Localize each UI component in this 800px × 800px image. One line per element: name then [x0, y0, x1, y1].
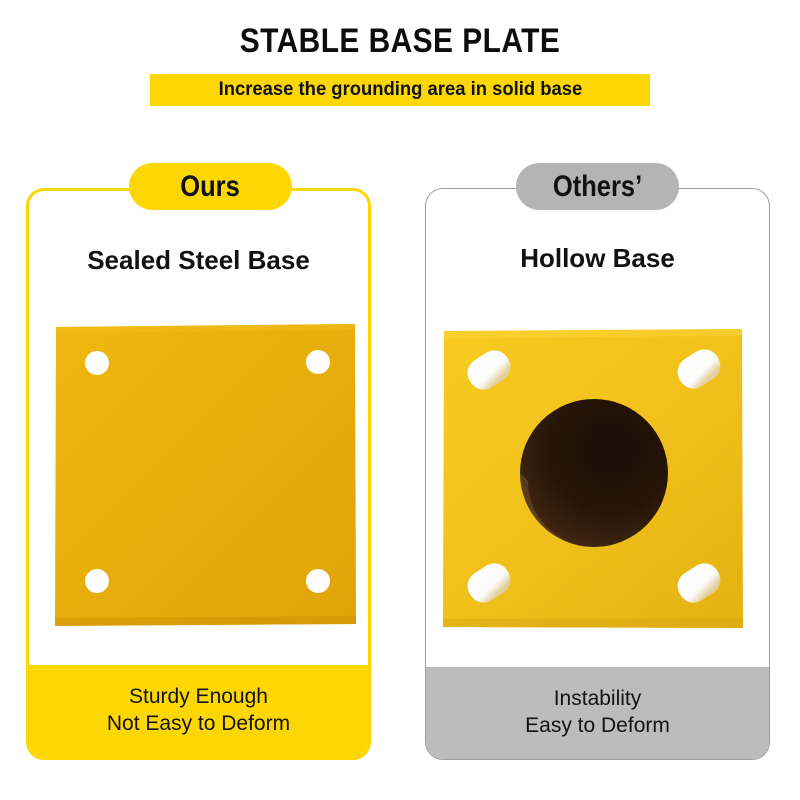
badge-others-label: Others’	[553, 170, 642, 204]
footer-line: Not Easy to Deform	[107, 711, 290, 738]
footer-line: Easy to Deform	[525, 713, 670, 740]
comparison-card-ours: Sealed Steel Base Sturdy Enough Not Easy…	[26, 188, 371, 760]
card-footer-others: Instability Easy to Deform	[426, 667, 769, 759]
card-heading-ours: Sealed Steel Base	[29, 245, 368, 276]
footer-line: Instability	[554, 686, 642, 713]
subtitle-text: Increase the grounding area in solid bas…	[218, 79, 582, 101]
badge-ours-label: Ours	[181, 170, 241, 204]
comparison-card-others: Hollow Base Instability Easy to Deform	[425, 188, 770, 760]
page-title: STABLE BASE PLATE	[48, 22, 752, 61]
badge-ours: Ours	[129, 163, 292, 210]
card-heading-others: Hollow Base	[426, 243, 769, 274]
card-footer-ours: Sturdy Enough Not Easy to Deform	[29, 665, 368, 757]
footer-line: Sturdy Enough	[129, 684, 268, 711]
subtitle-banner: Increase the grounding area in solid bas…	[150, 74, 650, 106]
badge-others: Others’	[516, 163, 679, 210]
